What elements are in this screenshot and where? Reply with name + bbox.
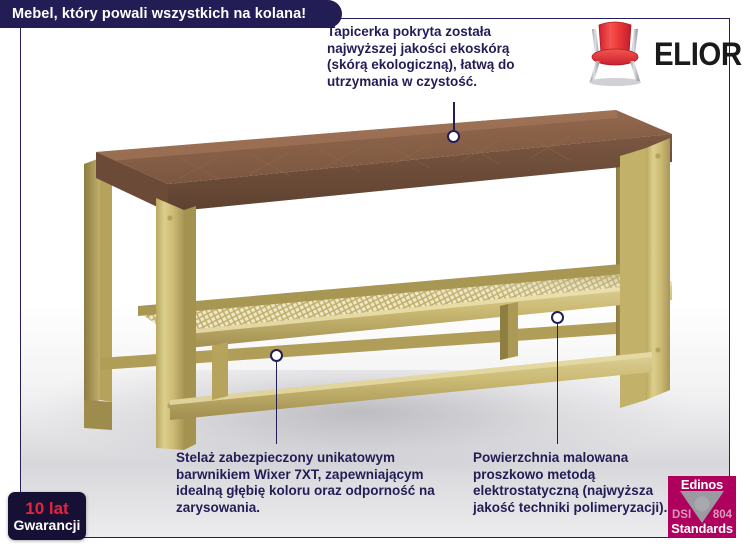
callout-line [557,324,559,444]
edinos-standards-label: Standards [668,521,736,536]
edinos-code-left: DSI [672,509,691,521]
callout-dot[interactable] [447,130,460,143]
callout-dot[interactable] [270,349,283,362]
red-chair-icon [578,19,652,89]
callout-dot[interactable] [551,311,564,324]
annotation-upholstery: Tapicerka pokryta została najwyższej jak… [327,24,542,90]
brand-logo[interactable]: ELIOR [578,18,738,90]
product-image-bench [60,100,700,450]
header-banner: Mebel, który powali wszystkich na kolana… [0,0,342,28]
warranty-years: 10 lat [25,500,68,517]
edinos-code-right: 804 [713,509,732,521]
brand-wordmark: ELIOR [654,36,742,73]
annotation-powder-coating: Powierzchnia malowana proszkowo metodą e… [473,450,673,516]
annotation-frame-dye: Stelaż zabezpieczony unikatowym barwniki… [176,450,444,516]
callout-line [276,362,278,444]
warranty-label: Gwarancji [14,517,81,533]
edinos-certification-badge: Edinos DSI 804 Standards [668,476,736,538]
infographic-canvas: Mebel, który powali wszystkich na kolana… [0,0,750,550]
warranty-badge: 10 lat Gwarancji [8,492,86,540]
banner-title: Mebel, który powali wszystkich na kolana… [12,6,306,22]
